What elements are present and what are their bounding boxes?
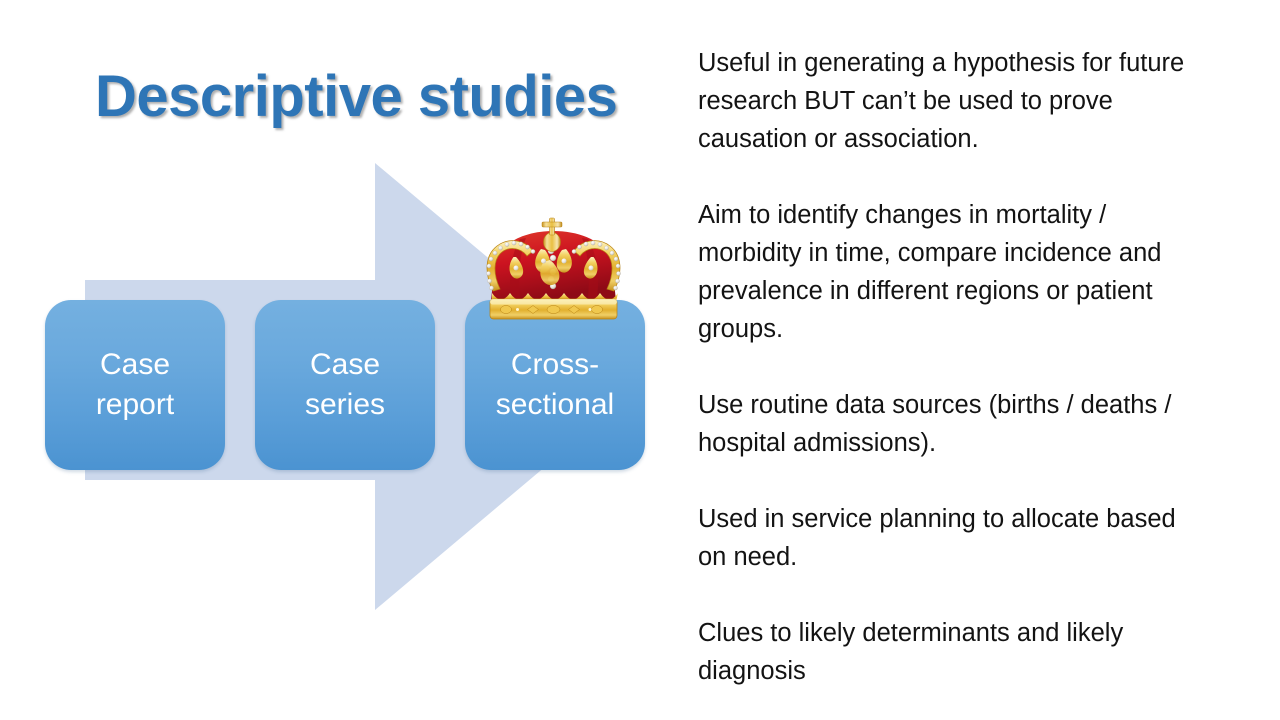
body-paragraph: Aim to identify changes in mortality / m… xyxy=(698,196,1198,348)
stage-box-cross-sectional[interactable]: Cross- sectional xyxy=(465,300,645,470)
crown-icon xyxy=(466,203,641,325)
stage-box-label: Case report xyxy=(90,345,180,424)
body-paragraph: Clues to likely determinants and likely … xyxy=(698,614,1198,690)
stage-box-case-series[interactable]: Case series xyxy=(255,300,435,470)
stage-box-label: Case series xyxy=(299,345,391,424)
slide-canvas: Descriptive studies Case report Case ser… xyxy=(0,0,1280,720)
body-text-column: Useful in generating a hypothesis for fu… xyxy=(698,44,1198,690)
process-diagram: Case report Case series Cross- sectional xyxy=(0,0,700,720)
body-paragraph: Use routine data sources (births / death… xyxy=(698,386,1198,462)
stage-box-label: Cross- sectional xyxy=(490,345,620,424)
body-paragraph: Useful in generating a hypothesis for fu… xyxy=(698,44,1198,158)
body-paragraph: Used in service planning to allocate bas… xyxy=(698,500,1198,576)
stage-box-case-report[interactable]: Case report xyxy=(45,300,225,470)
